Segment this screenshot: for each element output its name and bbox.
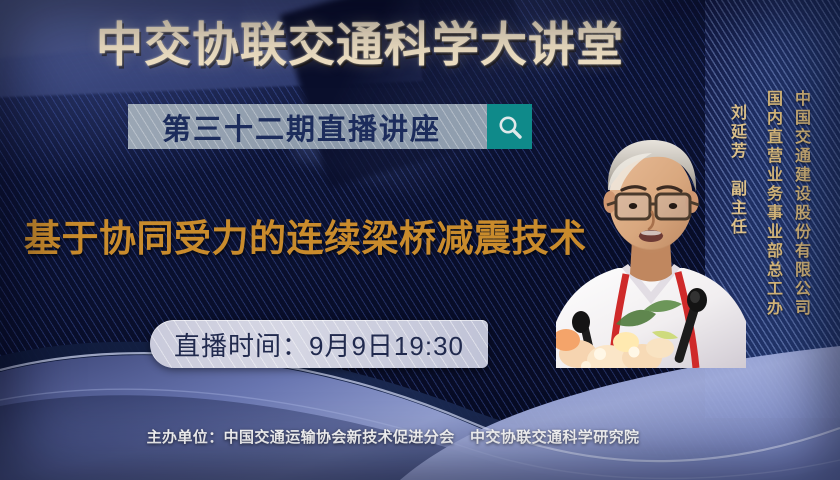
broadcast-time-label: 直播时间：9月9日19:30 (174, 326, 464, 363)
page-title: 中交协联交通科学大讲堂 (0, 22, 720, 69)
organizers-footer: 主办单位：中国交通运输协会新技术促进分会 中交协联交通科学研究院 (0, 426, 786, 447)
speaker-name-and-role: 刘延芳 副主任 (728, 104, 744, 314)
speaker-department: 国内直营业务事业部总工办 (764, 90, 780, 330)
live-stream-poster: 中交协联交通科学大讲堂 第三十二期直播讲座 基于协同受力的连续梁桥减震技术 直播… (0, 0, 840, 480)
search-icon[interactable] (487, 104, 532, 149)
episode-banner: 第三十二期直播讲座 (128, 104, 532, 149)
episode-label: 第三十二期直播讲座 (128, 106, 441, 148)
speaker-organization: 中国交通建设股份有限公司 (792, 90, 808, 330)
lecture-title: 基于协同受力的连续梁桥减震技术 (24, 208, 604, 262)
broadcast-time-badge: 直播时间：9月9日19:30 (150, 320, 488, 368)
